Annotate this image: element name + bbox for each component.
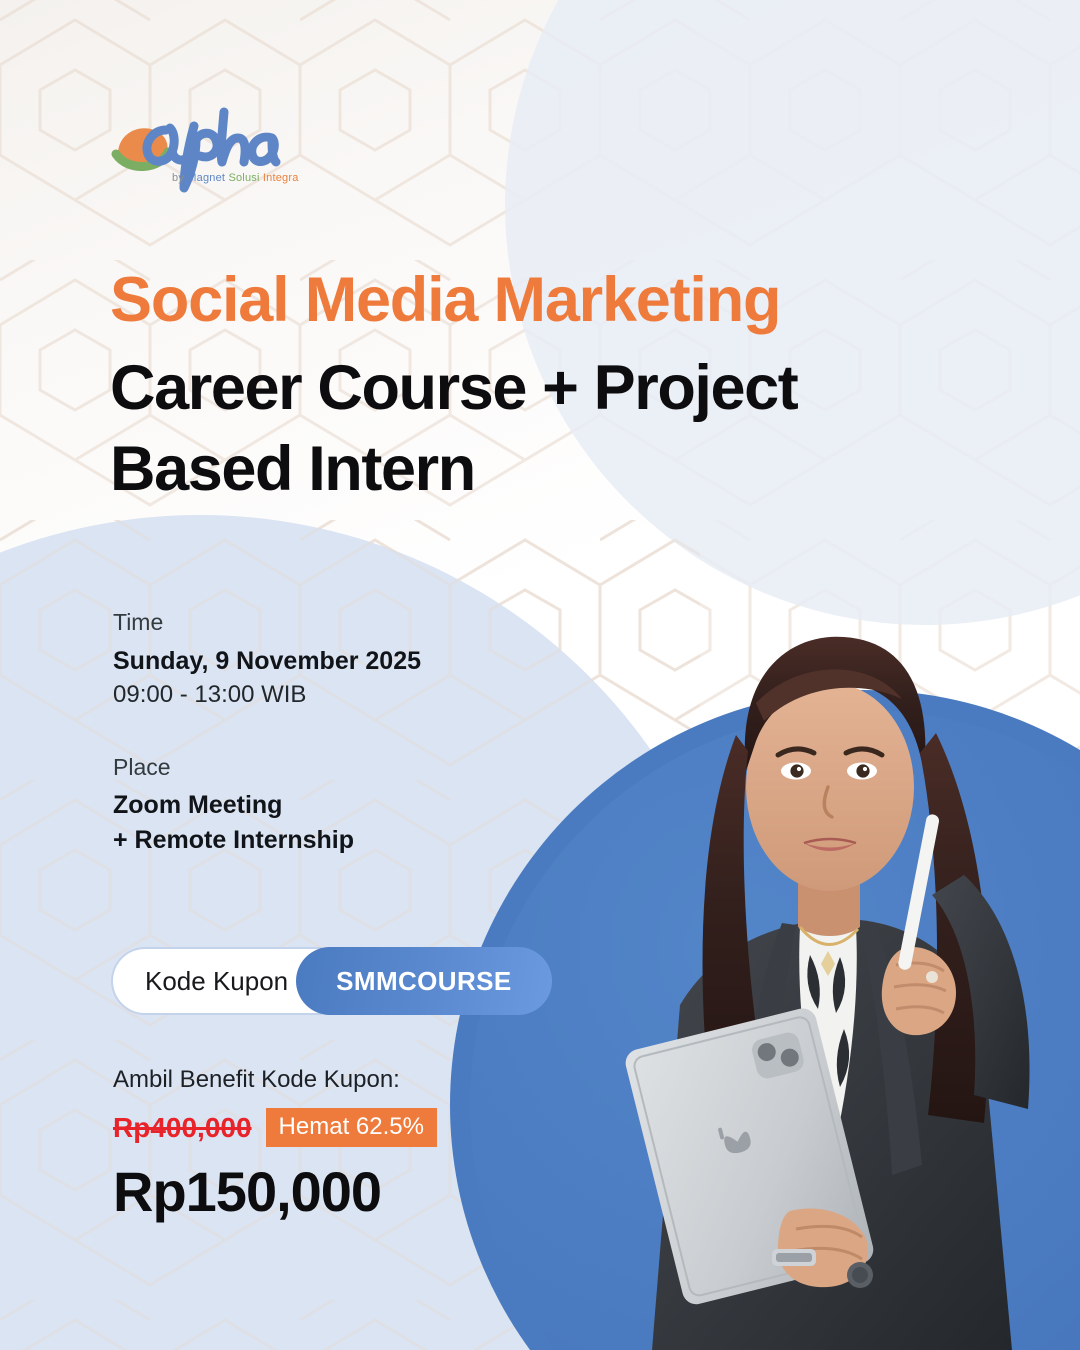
headline-line-2: Career Course + Project [110, 348, 990, 429]
time-hours: 09:00 - 13:00 WIB [113, 678, 583, 712]
pricing-row: Rp400,000 Hemat 62.5% [113, 1108, 633, 1147]
place-line-1: Zoom Meeting [113, 788, 583, 823]
headline-block: Social Media Marketing Career Course + P… [110, 268, 990, 510]
promo-poster: by Magnet Solusi Integra Social Media Ma… [0, 0, 1080, 1350]
place-label: Place [113, 750, 583, 785]
place-group: Place Zoom Meeting + Remote Internship [113, 750, 583, 858]
coupon-pill[interactable]: Kode Kupon SMMCOURSE [111, 947, 552, 1015]
logo-tagline: by Magnet Solusi Integra [172, 172, 299, 184]
final-price: Rp150,000 [113, 1161, 633, 1223]
time-group: Time Sunday, 9 November 2025 09:00 - 13:… [113, 605, 583, 712]
place-line-2: + Remote Internship [113, 823, 583, 858]
tagline-magnet: Magnet [187, 172, 225, 184]
time-date: Sunday, 9 November 2025 [113, 644, 583, 679]
old-price: Rp400,000 [113, 1112, 252, 1144]
headline-line-3: Based Intern [110, 429, 990, 510]
time-label: Time [113, 605, 583, 640]
coupon-label: Kode Kupon [111, 947, 322, 1015]
headline-line-1: Social Media Marketing [110, 268, 990, 332]
event-details: Time Sunday, 9 November 2025 09:00 - 13:… [113, 605, 583, 895]
presenter-photo [560, 575, 1080, 1350]
tagline-by: by [172, 172, 184, 184]
tagline-solusi: Solusi [228, 172, 259, 184]
tagline-integra: Integra [263, 172, 299, 184]
coupon-code[interactable]: SMMCOURSE [296, 947, 552, 1015]
discount-badge: Hemat 62.5% [266, 1108, 437, 1147]
pricing-block: Ambil Benefit Kode Kupon: Rp400,000 Hema… [113, 1062, 633, 1223]
pricing-caption: Ambil Benefit Kode Kupon: [113, 1062, 633, 1098]
